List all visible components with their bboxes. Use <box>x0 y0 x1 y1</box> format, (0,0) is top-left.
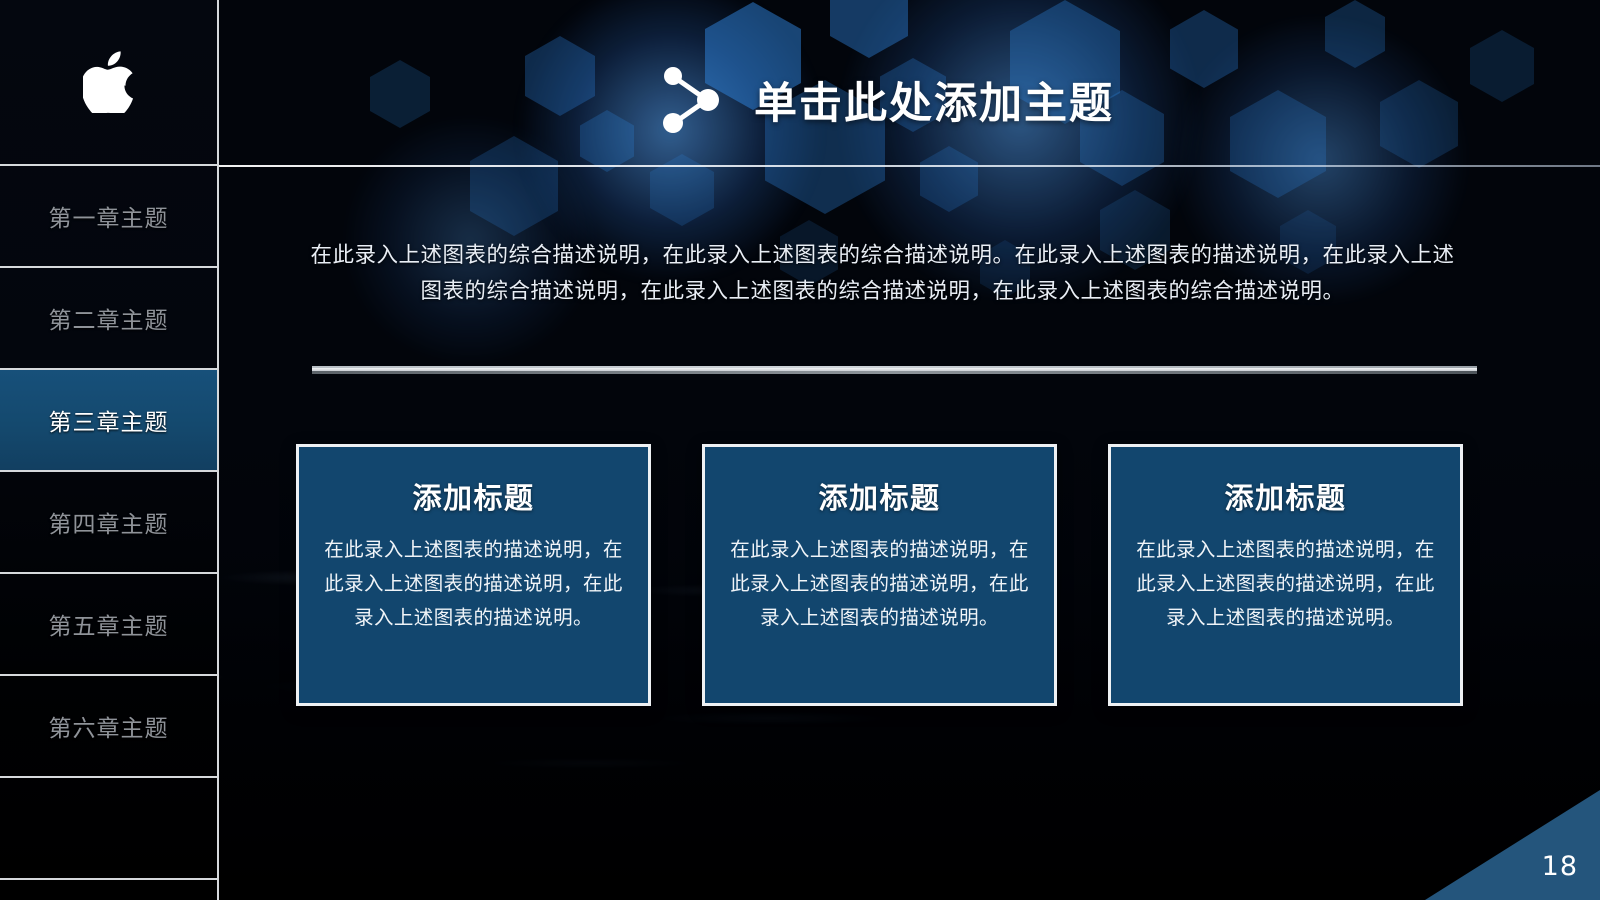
intro-paragraph: 在此录入上述图表的综合描述说明，在此录入上述图表的综合描述说明。在此录入上述图表… <box>300 238 1465 310</box>
sidebar-navigation: 第一章主题 第二章主题 第三章主题 第四章主题 第五章主题 第六章主题 <box>0 0 219 900</box>
sidebar-item-label: 第四章主题 <box>49 505 169 539</box>
card-title: 添加标题 <box>727 475 1032 517</box>
sidebar-item-label: 第五章主题 <box>49 607 169 641</box>
corner-triangle <box>1425 790 1600 900</box>
sidebar-item-chapter-6[interactable]: 第六章主题 <box>0 676 217 778</box>
presentation-slide: 第一章主题 第二章主题 第三章主题 第四章主题 第五章主题 第六章主题 <box>0 0 1600 900</box>
content-card-2[interactable]: 添加标题 在此录入上述图表的描述说明，在此录入上述图表的描述说明，在此录入上述图… <box>702 444 1057 706</box>
page-number: 18 <box>1542 851 1578 882</box>
card-body: 在此录入上述图表的描述说明，在此录入上述图表的描述说明，在此录入上述图表的描述说… <box>321 533 626 635</box>
content-card-1[interactable]: 添加标题 在此录入上述图表的描述说明，在此录入上述图表的描述说明，在此录入上述图… <box>296 444 651 706</box>
card-body: 在此录入上述图表的描述说明，在此录入上述图表的描述说明，在此录入上述图表的描述说… <box>727 533 1032 635</box>
card-title: 添加标题 <box>321 475 626 517</box>
sidebar-item-chapter-3[interactable]: 第三章主题 <box>0 370 217 472</box>
slide-title-block: 单击此处添加主题 <box>660 58 1114 142</box>
page-number-corner: 18 <box>1425 790 1600 900</box>
sidebar-item-chapter-5[interactable]: 第五章主题 <box>0 574 217 676</box>
sidebar-item-chapter-2[interactable]: 第二章主题 <box>0 268 217 370</box>
section-divider <box>312 366 1477 375</box>
sidebar-item-label: 第二章主题 <box>49 301 169 335</box>
share-network-icon <box>660 65 728 135</box>
header-divider <box>219 165 1600 167</box>
sidebar-item-label: 第三章主题 <box>49 403 169 437</box>
sidebar-item-empty[interactable] <box>0 778 217 880</box>
apple-logo-icon <box>83 51 135 113</box>
page-title: 单击此处添加主题 <box>754 69 1114 131</box>
card-body: 在此录入上述图表的描述说明，在此录入上述图表的描述说明，在此录入上述图表的描述说… <box>1133 533 1438 635</box>
card-title: 添加标题 <box>1133 475 1438 517</box>
card-row: 添加标题 在此录入上述图表的描述说明，在此录入上述图表的描述说明，在此录入上述图… <box>296 444 1463 706</box>
sidebar-item-chapter-4[interactable]: 第四章主题 <box>0 472 217 574</box>
sidebar-logo-cell <box>0 0 217 166</box>
sidebar-item-chapter-1[interactable]: 第一章主题 <box>0 166 217 268</box>
content-card-3[interactable]: 添加标题 在此录入上述图表的描述说明，在此录入上述图表的描述说明，在此录入上述图… <box>1108 444 1463 706</box>
sidebar-item-label: 第六章主题 <box>49 709 169 743</box>
sidebar-item-label: 第一章主题 <box>49 199 169 233</box>
